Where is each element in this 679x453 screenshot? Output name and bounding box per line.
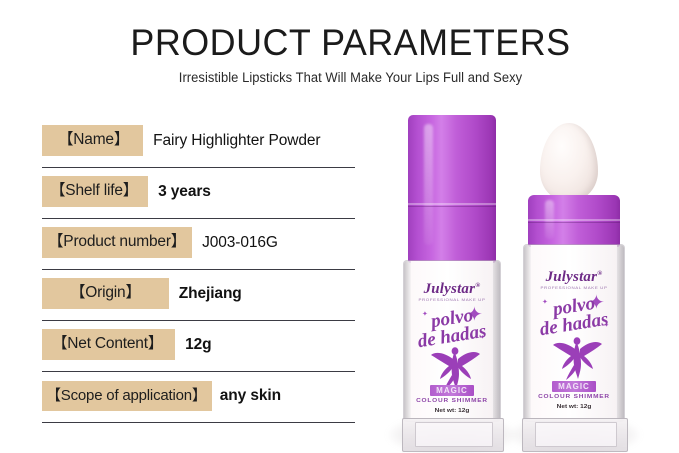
- spec-value-scope-of-application: any skin: [220, 387, 281, 405]
- bottle-cap: [408, 115, 496, 263]
- registered-trademark-icon: ®: [597, 270, 602, 277]
- spec-label-scope-of-application: 【Scope of application】: [42, 381, 212, 411]
- base-inner-edge: [415, 422, 493, 447]
- magic-badge: MAGIC: [430, 385, 474, 396]
- spec-label-net-content: 【Net Content】: [42, 329, 175, 360]
- cap-seam-shadow: [528, 222, 620, 223]
- spec-label-origin: 【Origin】: [42, 278, 169, 309]
- cap-highlight: [424, 124, 433, 245]
- bottle-body: Julystar® PROFESSIONAL MAKE UP ✦ ✦ ✦ pol…: [404, 261, 500, 421]
- cap-seam: [528, 219, 620, 221]
- product-photos: Julystar® PROFESSIONAL MAKE UP ✦ ✦ ✦ pol…: [386, 100, 666, 453]
- table-row: 【Net Content】 12g: [42, 321, 358, 372]
- bottle-base: [522, 418, 628, 452]
- badge-subtitle: COLOUR SHIMMER: [404, 397, 500, 403]
- header: PRODUCT PARAMETERS Irresistible Lipstick…: [0, 24, 679, 85]
- spec-value-name: Fairy Highlighter Powder: [153, 132, 320, 150]
- page-title: PRODUCT PARAMETERS: [32, 24, 669, 63]
- bottle-label: Julystar® PROFESSIONAL MAKE UP ✦ ✦ ✦ pol…: [524, 245, 624, 421]
- table-row: 【Origin】 Zhejiang: [42, 270, 358, 321]
- product-closed-bottle: Julystar® PROFESSIONAL MAKE UP ✦ ✦ ✦ pol…: [394, 115, 510, 450]
- cap-seam: [408, 203, 496, 205]
- brand-logo: Julystar®: [524, 269, 624, 286]
- sponge-applicator: [540, 123, 598, 201]
- spec-label-product-number: 【Product number】: [42, 227, 192, 258]
- brand-logo: Julystar®: [404, 281, 500, 298]
- product-open-bottle: Julystar® PROFESSIONAL MAKE UP ✦ ✦ ✦ pol…: [514, 115, 636, 450]
- bottle-label: Julystar® PROFESSIONAL MAKE UP ✦ ✦ ✦ pol…: [404, 261, 500, 421]
- spec-label-name: 【Name】: [42, 125, 143, 156]
- registered-trademark-icon: ®: [475, 282, 480, 289]
- net-weight-text: Net wt: 12g: [404, 407, 500, 413]
- badge-subtitle: COLOUR SHIMMER: [524, 393, 624, 399]
- bottle-base: [402, 418, 504, 452]
- spec-value-product-number: J003-016G: [202, 234, 278, 252]
- cap-seam-shadow: [408, 206, 496, 207]
- bottle-cap-ring: [528, 195, 620, 247]
- bottle-body: Julystar® PROFESSIONAL MAKE UP ✦ ✦ ✦ pol…: [524, 245, 624, 421]
- spec-value-origin: Zhejiang: [179, 285, 242, 303]
- table-row: 【Product number】 J003-016G: [42, 219, 358, 270]
- net-weight-text: Net wt: 12g: [524, 403, 624, 409]
- spec-value-net-content: 12g: [185, 336, 211, 354]
- spec-value-shelf-life: 3 years: [158, 183, 211, 201]
- table-row: 【Name】 Fairy Highlighter Powder: [42, 117, 358, 168]
- brand-subtitle: PROFESSIONAL MAKE UP: [524, 285, 624, 289]
- fairy-silhouette-icon: [550, 335, 604, 381]
- spec-label-shelf-life: 【Shelf life】: [42, 176, 148, 207]
- row-divider: [42, 422, 355, 423]
- base-inner-edge: [535, 422, 616, 447]
- magic-badge: MAGIC: [552, 381, 596, 392]
- brand-subtitle: PROFESSIONAL MAKE UP: [404, 297, 500, 301]
- brand-name: Julystar: [546, 269, 598, 285]
- table-row: 【Shelf life】 3 years: [42, 168, 358, 219]
- brand-name: Julystar: [424, 281, 476, 297]
- specification-table: 【Name】 Fairy Highlighter Powder 【Shelf l…: [42, 117, 358, 423]
- product-parameters-image: PRODUCT PARAMETERS Irresistible Lipstick…: [0, 0, 679, 453]
- table-row: 【Scope of application】 any skin: [42, 372, 358, 423]
- page-subtitle: Irresistible Lipsticks That Will Make Yo…: [35, 70, 666, 85]
